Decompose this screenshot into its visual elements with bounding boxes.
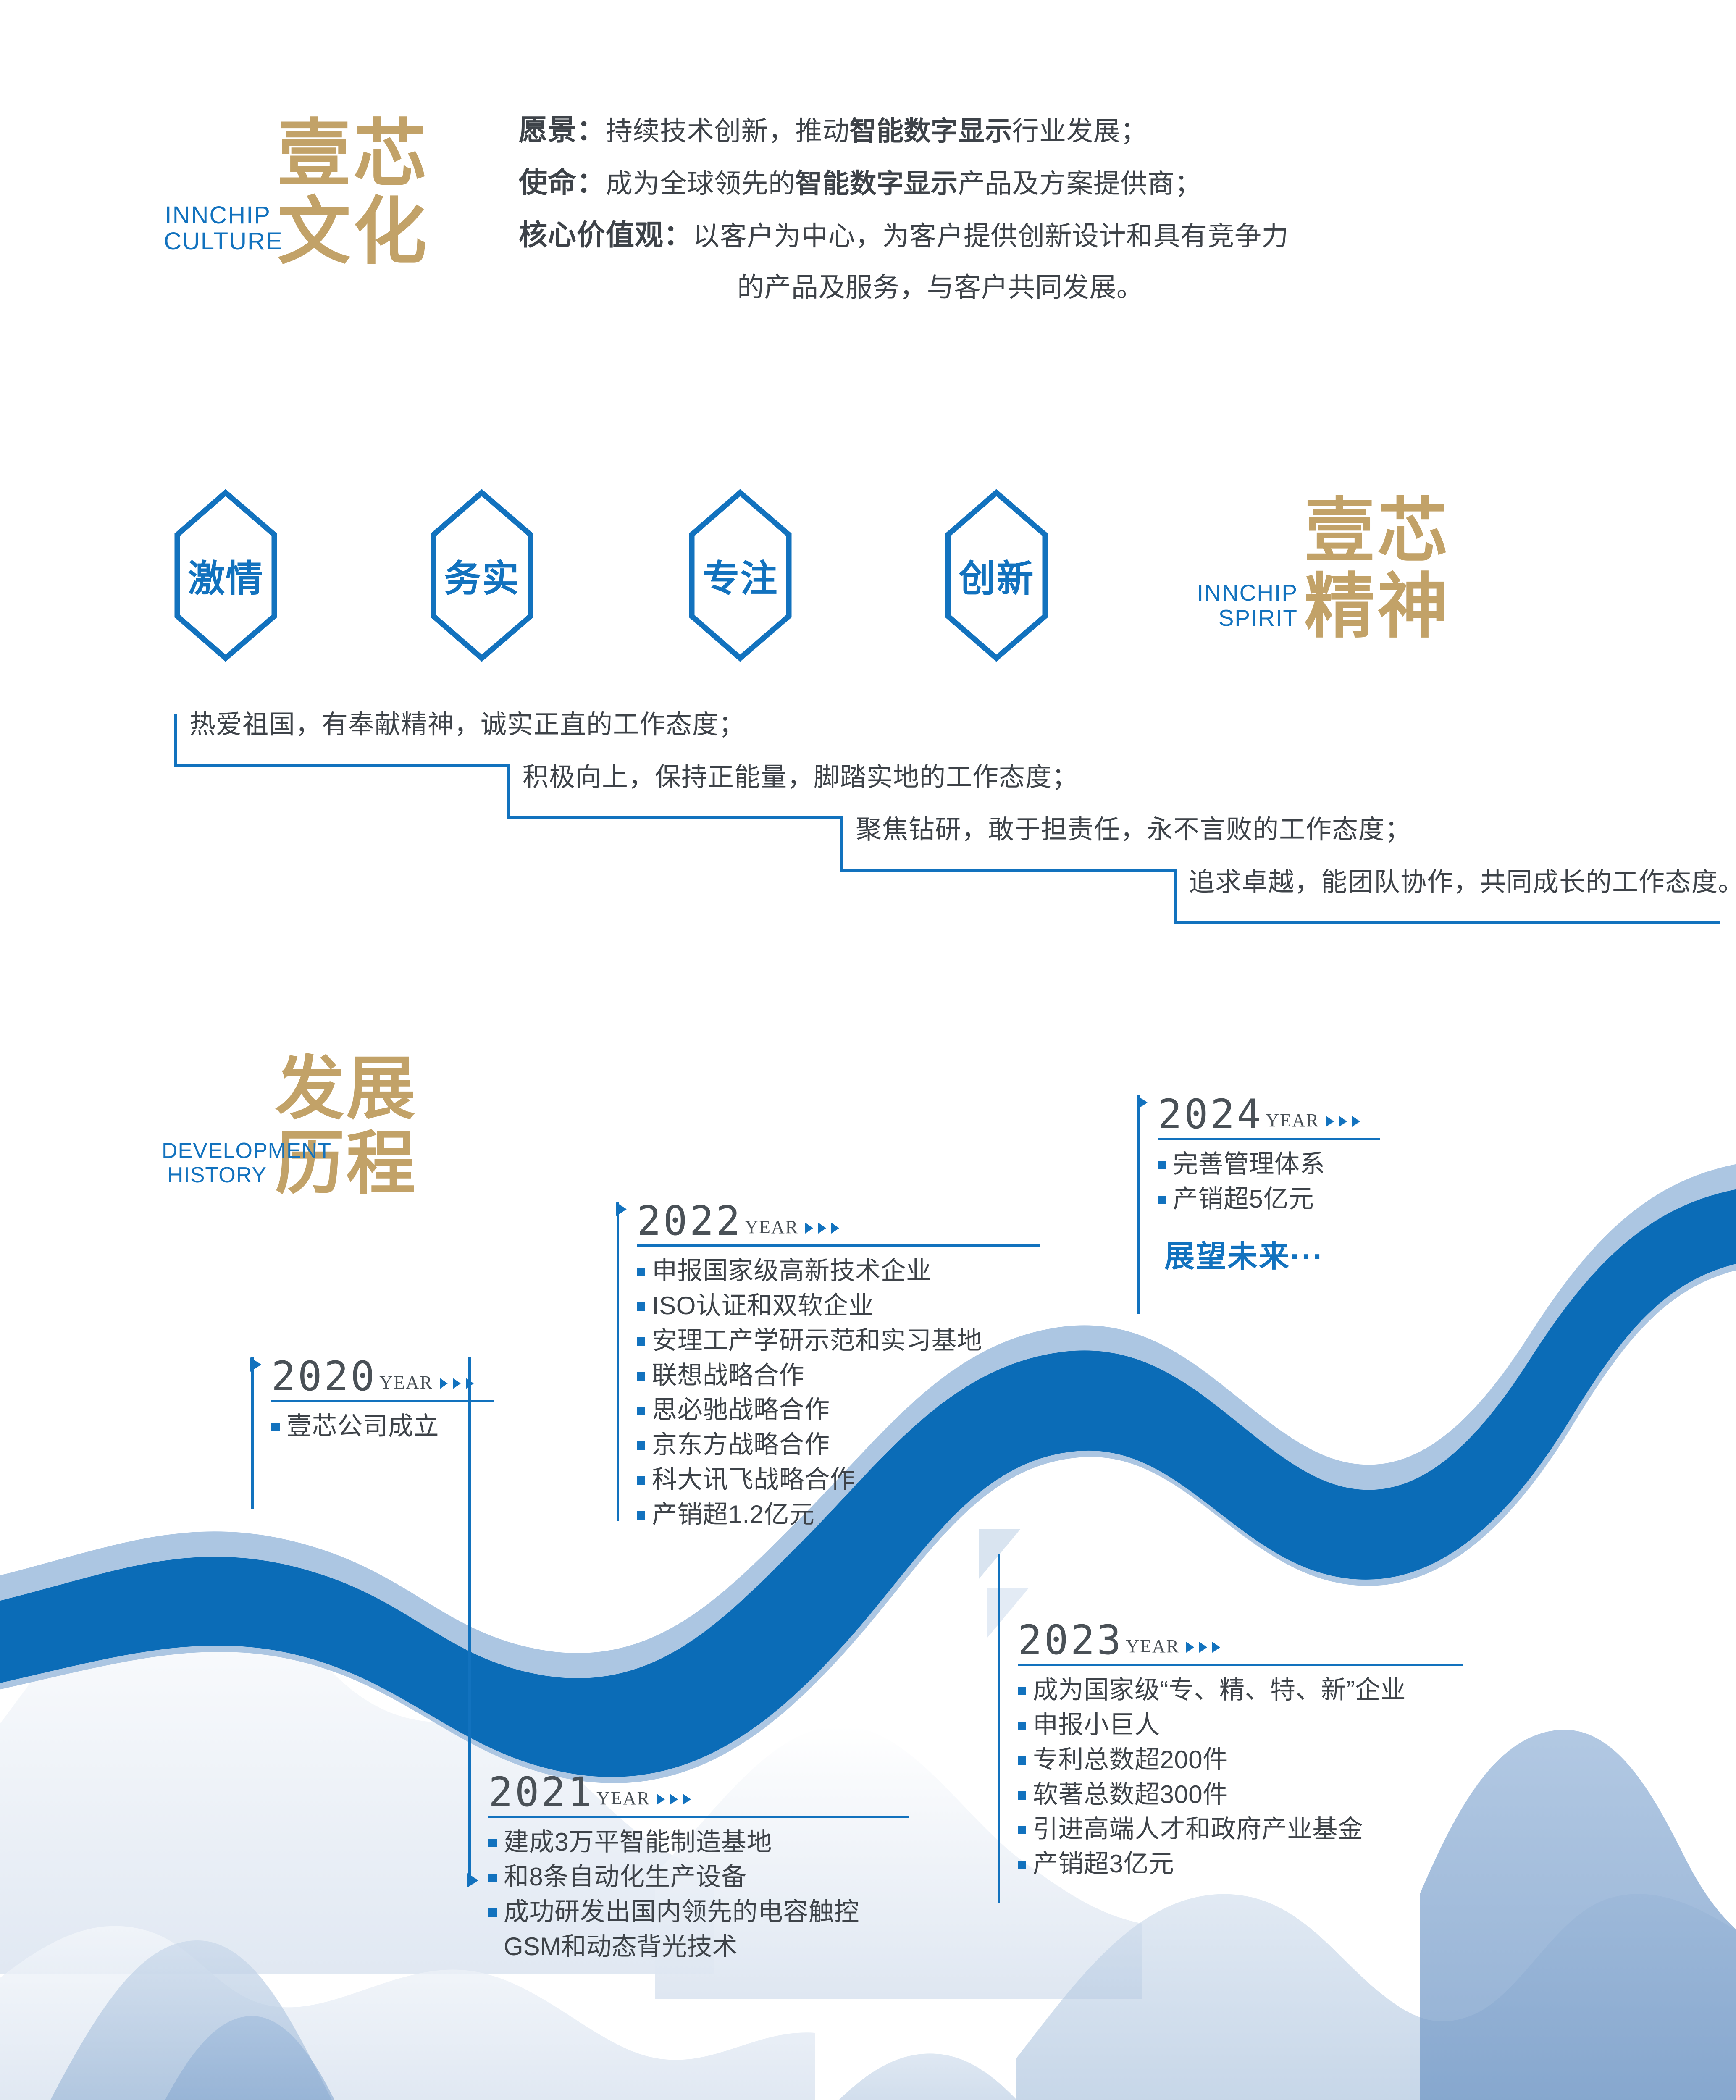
milestone-2020-list: 壹芯公司成立 bbox=[271, 1410, 494, 1443]
spirit-logo-cn-line2: 精神 bbox=[1304, 571, 1450, 642]
list-item: 成为国家级“专、精、特、新”企业 bbox=[1018, 1674, 1463, 1706]
milestone-2024-item-1: 产销超5亿元 bbox=[1173, 1183, 1314, 1215]
statement-step-2: 积极向上，保持正能量，脚踏实地的工作态度； bbox=[507, 766, 843, 819]
chevron-triple-icon bbox=[1326, 1116, 1360, 1134]
milestone-2020-item-0: 壹芯公司成立 bbox=[286, 1410, 439, 1443]
milestone-2022-item-2: 安理工产学研示范和实习基地 bbox=[652, 1325, 982, 1357]
list-item: 安理工产学研示范和实习基地 bbox=[637, 1325, 1040, 1357]
values-label: 核心价值观： bbox=[519, 218, 693, 252]
milestone-rule bbox=[1018, 1664, 1463, 1666]
culture-row-values: 核心价值观： 以客户为中心，为客户提供创新设计和具有竞争力 bbox=[519, 218, 1653, 252]
spirit-logo-cn-line1: 壹芯 bbox=[1304, 496, 1450, 566]
chevron-triple-icon bbox=[1186, 1642, 1220, 1659]
list-item: 产销超5亿元 bbox=[1158, 1183, 1380, 1215]
milestone-rail bbox=[617, 1202, 619, 1521]
bullet-icon bbox=[637, 1302, 645, 1311]
bullet-icon bbox=[488, 1874, 497, 1882]
statement-text-1: 热爱祖国，有奉献精神，诚实正直的工作态度； bbox=[189, 711, 745, 739]
year-word: YEAR bbox=[379, 1372, 433, 1396]
milestone-2024-future-text: 展望未来··· bbox=[1158, 1231, 1380, 1276]
milestone-2021-subline: GSM和动态背光技术 bbox=[488, 1931, 909, 1963]
culture-logo: 壹芯 文化 INNCHIP CULTURE bbox=[164, 113, 508, 294]
chevron-triple-icon bbox=[805, 1223, 839, 1240]
milestone-rail bbox=[251, 1357, 254, 1509]
spirit-logo-en-line1: INNCHIP bbox=[1176, 580, 1298, 606]
dev-logo-en-line1: DEVELOPMENT bbox=[162, 1138, 267, 1164]
list-item: 产销超1.2亿元 bbox=[637, 1499, 1040, 1531]
milestone-2021-item-0: 建成3万平智能制造基地 bbox=[504, 1826, 772, 1858]
milestone-2022-list: 申报国家级高新技术企业 ISO认证和双软企业 安理工产学研示范和实习基地 联想战… bbox=[637, 1255, 1040, 1530]
milestone-rule bbox=[1158, 1138, 1380, 1140]
list-item: 思必驰战略合作 bbox=[637, 1394, 1040, 1426]
milestone-2021-item-2: 成功研发出国内领先的电容触控 bbox=[504, 1896, 859, 1928]
vision-pre: 持续技术创新，推动 bbox=[606, 116, 850, 146]
list-item: 科大讯飞战略合作 bbox=[637, 1464, 1040, 1496]
step-hline bbox=[840, 869, 1177, 871]
milestone-2024-item-0: 完善管理体系 bbox=[1173, 1148, 1325, 1181]
dev-logo-en-line2: HISTORY bbox=[162, 1163, 267, 1188]
hexagon-innovation[interactable]: 创新 bbox=[945, 489, 1048, 661]
step-hline bbox=[174, 764, 510, 766]
spirit-hexagon-row: 激情 务实 专注 创新 bbox=[174, 489, 1132, 666]
bullet-icon bbox=[271, 1423, 280, 1431]
milestone-2024-year: 2024 bbox=[1158, 1095, 1263, 1134]
values-body: 以客户为中心，为客户提供创新设计和具有竞争力 bbox=[693, 218, 1289, 252]
milestone-2022-item-4: 思必驰战略合作 bbox=[652, 1394, 830, 1426]
list-item: 京东方战略合作 bbox=[637, 1429, 1040, 1461]
list-item: 产销超3亿元 bbox=[1018, 1848, 1463, 1880]
milestone-2022-year: 2022 bbox=[637, 1202, 742, 1240]
culture-logo-en-line1: INNCHIP bbox=[164, 202, 271, 230]
step-hline bbox=[1174, 921, 1720, 924]
hexagon-passion-label: 激情 bbox=[174, 489, 277, 661]
milestone-2021-item-1: 和8条自动化生产设备 bbox=[504, 1861, 746, 1893]
bullet-icon bbox=[1158, 1161, 1166, 1169]
spirit-logo-en-line2: SPIRIT bbox=[1176, 605, 1298, 631]
milestone-2023-item-2: 专利总数超200件 bbox=[1033, 1744, 1228, 1776]
mission-body: 成为全球领先的智能数字显示产品及方案提供商； bbox=[606, 166, 1202, 200]
mission-bold: 智能数字显示 bbox=[796, 168, 958, 199]
milestone-2022-item-0: 申报国家级高新技术企业 bbox=[652, 1255, 932, 1287]
list-item: 建成3万平智能制造基地 bbox=[488, 1826, 909, 1858]
list-item: 和8条自动化生产设备 bbox=[488, 1861, 909, 1893]
bullet-icon bbox=[637, 1407, 645, 1415]
statement-step-3: 聚焦钻研，敢于担责任，永不言败的工作态度； bbox=[840, 819, 1177, 871]
milestone-2022-item-6: 科大讯飞战略合作 bbox=[652, 1464, 855, 1496]
culture-row-mission: 使命： 成为全球领先的智能数字显示产品及方案提供商； bbox=[519, 166, 1653, 200]
milestone-2020-header: 2020 YEAR bbox=[271, 1357, 494, 1396]
statement-text-2: 积极向上，保持正能量，脚踏实地的工作态度； bbox=[523, 763, 1078, 792]
statement-text-4: 追求卓越，能团队协作，共同成长的工作态度。 bbox=[1189, 868, 1736, 897]
list-item: 成功研发出国内领先的电容触控 bbox=[488, 1896, 909, 1928]
bullet-icon bbox=[1018, 1687, 1026, 1695]
list-item: 联想战略合作 bbox=[637, 1360, 1040, 1392]
step-vline bbox=[1174, 871, 1177, 924]
milestone-rule bbox=[637, 1244, 1040, 1247]
list-item: 专利总数超200件 bbox=[1018, 1744, 1463, 1776]
year-word: YEAR bbox=[1126, 1635, 1179, 1659]
values-continuation: 的产品及服务，与客户共同发展。 bbox=[737, 271, 1653, 304]
bullet-icon bbox=[1018, 1756, 1026, 1765]
milestone-rail bbox=[1137, 1095, 1140, 1314]
milestone-2023-item-5: 产销超3亿元 bbox=[1033, 1848, 1174, 1880]
milestone-pointer-icon bbox=[467, 1873, 478, 1887]
vision-post: 行业发展； bbox=[1012, 116, 1148, 146]
year-word: YEAR bbox=[1266, 1110, 1319, 1134]
milestone-2020-year: 2020 bbox=[271, 1357, 377, 1396]
vision-bold: 智能数字显示 bbox=[850, 116, 1012, 146]
step-vline bbox=[174, 714, 177, 766]
mission-label: 使命： bbox=[519, 166, 606, 199]
milestone-2023-item-4: 引进高端人才和政府产业基金 bbox=[1033, 1813, 1363, 1845]
bullet-icon bbox=[488, 1839, 497, 1847]
hexagon-passion[interactable]: 激情 bbox=[174, 489, 277, 661]
hexagon-focus-label: 专注 bbox=[689, 489, 792, 661]
milestone-2022-item-1: ISO认证和双软企业 bbox=[652, 1290, 874, 1322]
vision-label: 愿景： bbox=[519, 113, 606, 147]
milestone-2021-header: 2021 YEAR bbox=[488, 1773, 909, 1811]
bullet-icon bbox=[637, 1337, 645, 1346]
vision-body: 持续技术创新，推动智能数字显示行业发展； bbox=[606, 113, 1148, 147]
milestone-2023-item-1: 申报小巨人 bbox=[1033, 1709, 1160, 1741]
milestone-rule bbox=[271, 1400, 494, 1402]
statement-text-3: 聚焦钻研，敢于担责任，永不言败的工作态度； bbox=[856, 816, 1411, 844]
milestone-2023-list: 成为国家级“专、精、特、新”企业 申报小巨人 专利总数超200件 软著总数超30… bbox=[1018, 1674, 1463, 1880]
spirit-logo: 壹芯 精神 INNCHIP SPIRIT bbox=[1176, 496, 1525, 672]
chevron-triple-icon bbox=[657, 1794, 691, 1811]
mission-post: 产品及方案提供商； bbox=[958, 168, 1202, 199]
bullet-icon bbox=[637, 1268, 645, 1276]
milestone-2022-header: 2022 YEAR bbox=[637, 1202, 1040, 1240]
list-item: 软著总数超300件 bbox=[1018, 1779, 1463, 1811]
milestone-2021-list: 建成3万平智能制造基地 和8条自动化生产设备 成功研发出国内领先的电容触控 GS… bbox=[488, 1826, 909, 1963]
bullet-icon bbox=[1018, 1722, 1026, 1730]
milestone-2023-item-0: 成为国家级“专、精、特、新”企业 bbox=[1033, 1674, 1406, 1706]
milestone-rule bbox=[488, 1816, 909, 1818]
culture-logo-cn-line1: 壹芯 bbox=[277, 118, 429, 191]
bullet-icon bbox=[637, 1441, 645, 1450]
milestone-rail bbox=[468, 1357, 471, 1878]
milestone-2021-year: 2021 bbox=[488, 1773, 594, 1811]
hexagon-pragmatism[interactable]: 务实 bbox=[431, 489, 533, 661]
bullet-icon bbox=[1018, 1791, 1026, 1800]
milestone-2024-list: 完善管理体系 产销超5亿元 展望未来··· bbox=[1158, 1148, 1380, 1276]
bullet-icon bbox=[1158, 1196, 1166, 1204]
step-hline bbox=[507, 816, 843, 819]
bullet-icon bbox=[1018, 1861, 1026, 1869]
dev-logo-cn-line1: 发展 bbox=[275, 1054, 417, 1123]
statement-step-4: 追求卓越，能团队协作，共同成长的工作态度。 bbox=[1174, 871, 1720, 924]
bullet-icon bbox=[1018, 1826, 1026, 1834]
step-vline bbox=[507, 766, 510, 819]
year-word: YEAR bbox=[745, 1216, 798, 1240]
mission-pre: 成为全球领先的 bbox=[606, 168, 796, 199]
hexagon-innovation-label: 创新 bbox=[945, 489, 1048, 661]
year-word: YEAR bbox=[596, 1788, 650, 1811]
values-pre: 以客户为中心，为客户提供创新设计和具有竞争力 bbox=[693, 221, 1289, 251]
milestone-rail bbox=[998, 1554, 1000, 1903]
list-item: 壹芯公司成立 bbox=[271, 1410, 494, 1443]
milestone-2024-header: 2024 YEAR bbox=[1158, 1095, 1380, 1134]
hexagon-focus[interactable]: 专注 bbox=[689, 489, 792, 661]
bullet-icon bbox=[637, 1476, 645, 1485]
list-item: 完善管理体系 bbox=[1158, 1148, 1380, 1181]
milestone-2022-item-3: 联想战略合作 bbox=[652, 1360, 804, 1392]
list-item: ISO认证和双软企业 bbox=[637, 1290, 1040, 1322]
culture-text-block: 愿景： 持续技术创新，推动智能数字显示行业发展； 使命： 成为全球领先的智能数字… bbox=[519, 113, 1653, 304]
culture-row-vision: 愿景： 持续技术创新，推动智能数字显示行业发展； bbox=[519, 113, 1653, 147]
hexagon-pragmatism-label: 务实 bbox=[431, 489, 533, 661]
bullet-icon bbox=[488, 1908, 497, 1917]
milestone-2022-item-7: 产销超1.2亿元 bbox=[652, 1499, 814, 1531]
culture-logo-en-line2: CULTURE bbox=[164, 228, 271, 256]
milestone-2023-item-3: 软著总数超300件 bbox=[1033, 1779, 1228, 1811]
statement-step-1: 热爱祖国，有奉献精神，诚实正直的工作态度； bbox=[174, 714, 510, 766]
milestone-2022-item-5: 京东方战略合作 bbox=[652, 1429, 830, 1461]
development-history-logo: 发展 历程 DEVELOPMENT HISTORY bbox=[162, 1054, 498, 1231]
step-vline bbox=[840, 819, 843, 871]
milestone-2023-year: 2023 bbox=[1018, 1621, 1123, 1659]
bullet-icon bbox=[637, 1372, 645, 1381]
culture-logo-cn-line2: 文化 bbox=[277, 195, 429, 269]
spirit-statement-staircase: 热爱祖国，有奉献精神，诚实正直的工作态度； 积极向上，保持正能量，脚踏实地的工作… bbox=[174, 714, 1560, 932]
milestone-2023-header: 2023 YEAR bbox=[1018, 1621, 1463, 1659]
bullet-icon bbox=[637, 1511, 645, 1520]
list-item: 引进高端人才和政府产业基金 bbox=[1018, 1813, 1463, 1845]
list-item: 申报小巨人 bbox=[1018, 1709, 1463, 1741]
list-item: 申报国家级高新技术企业 bbox=[637, 1255, 1040, 1287]
